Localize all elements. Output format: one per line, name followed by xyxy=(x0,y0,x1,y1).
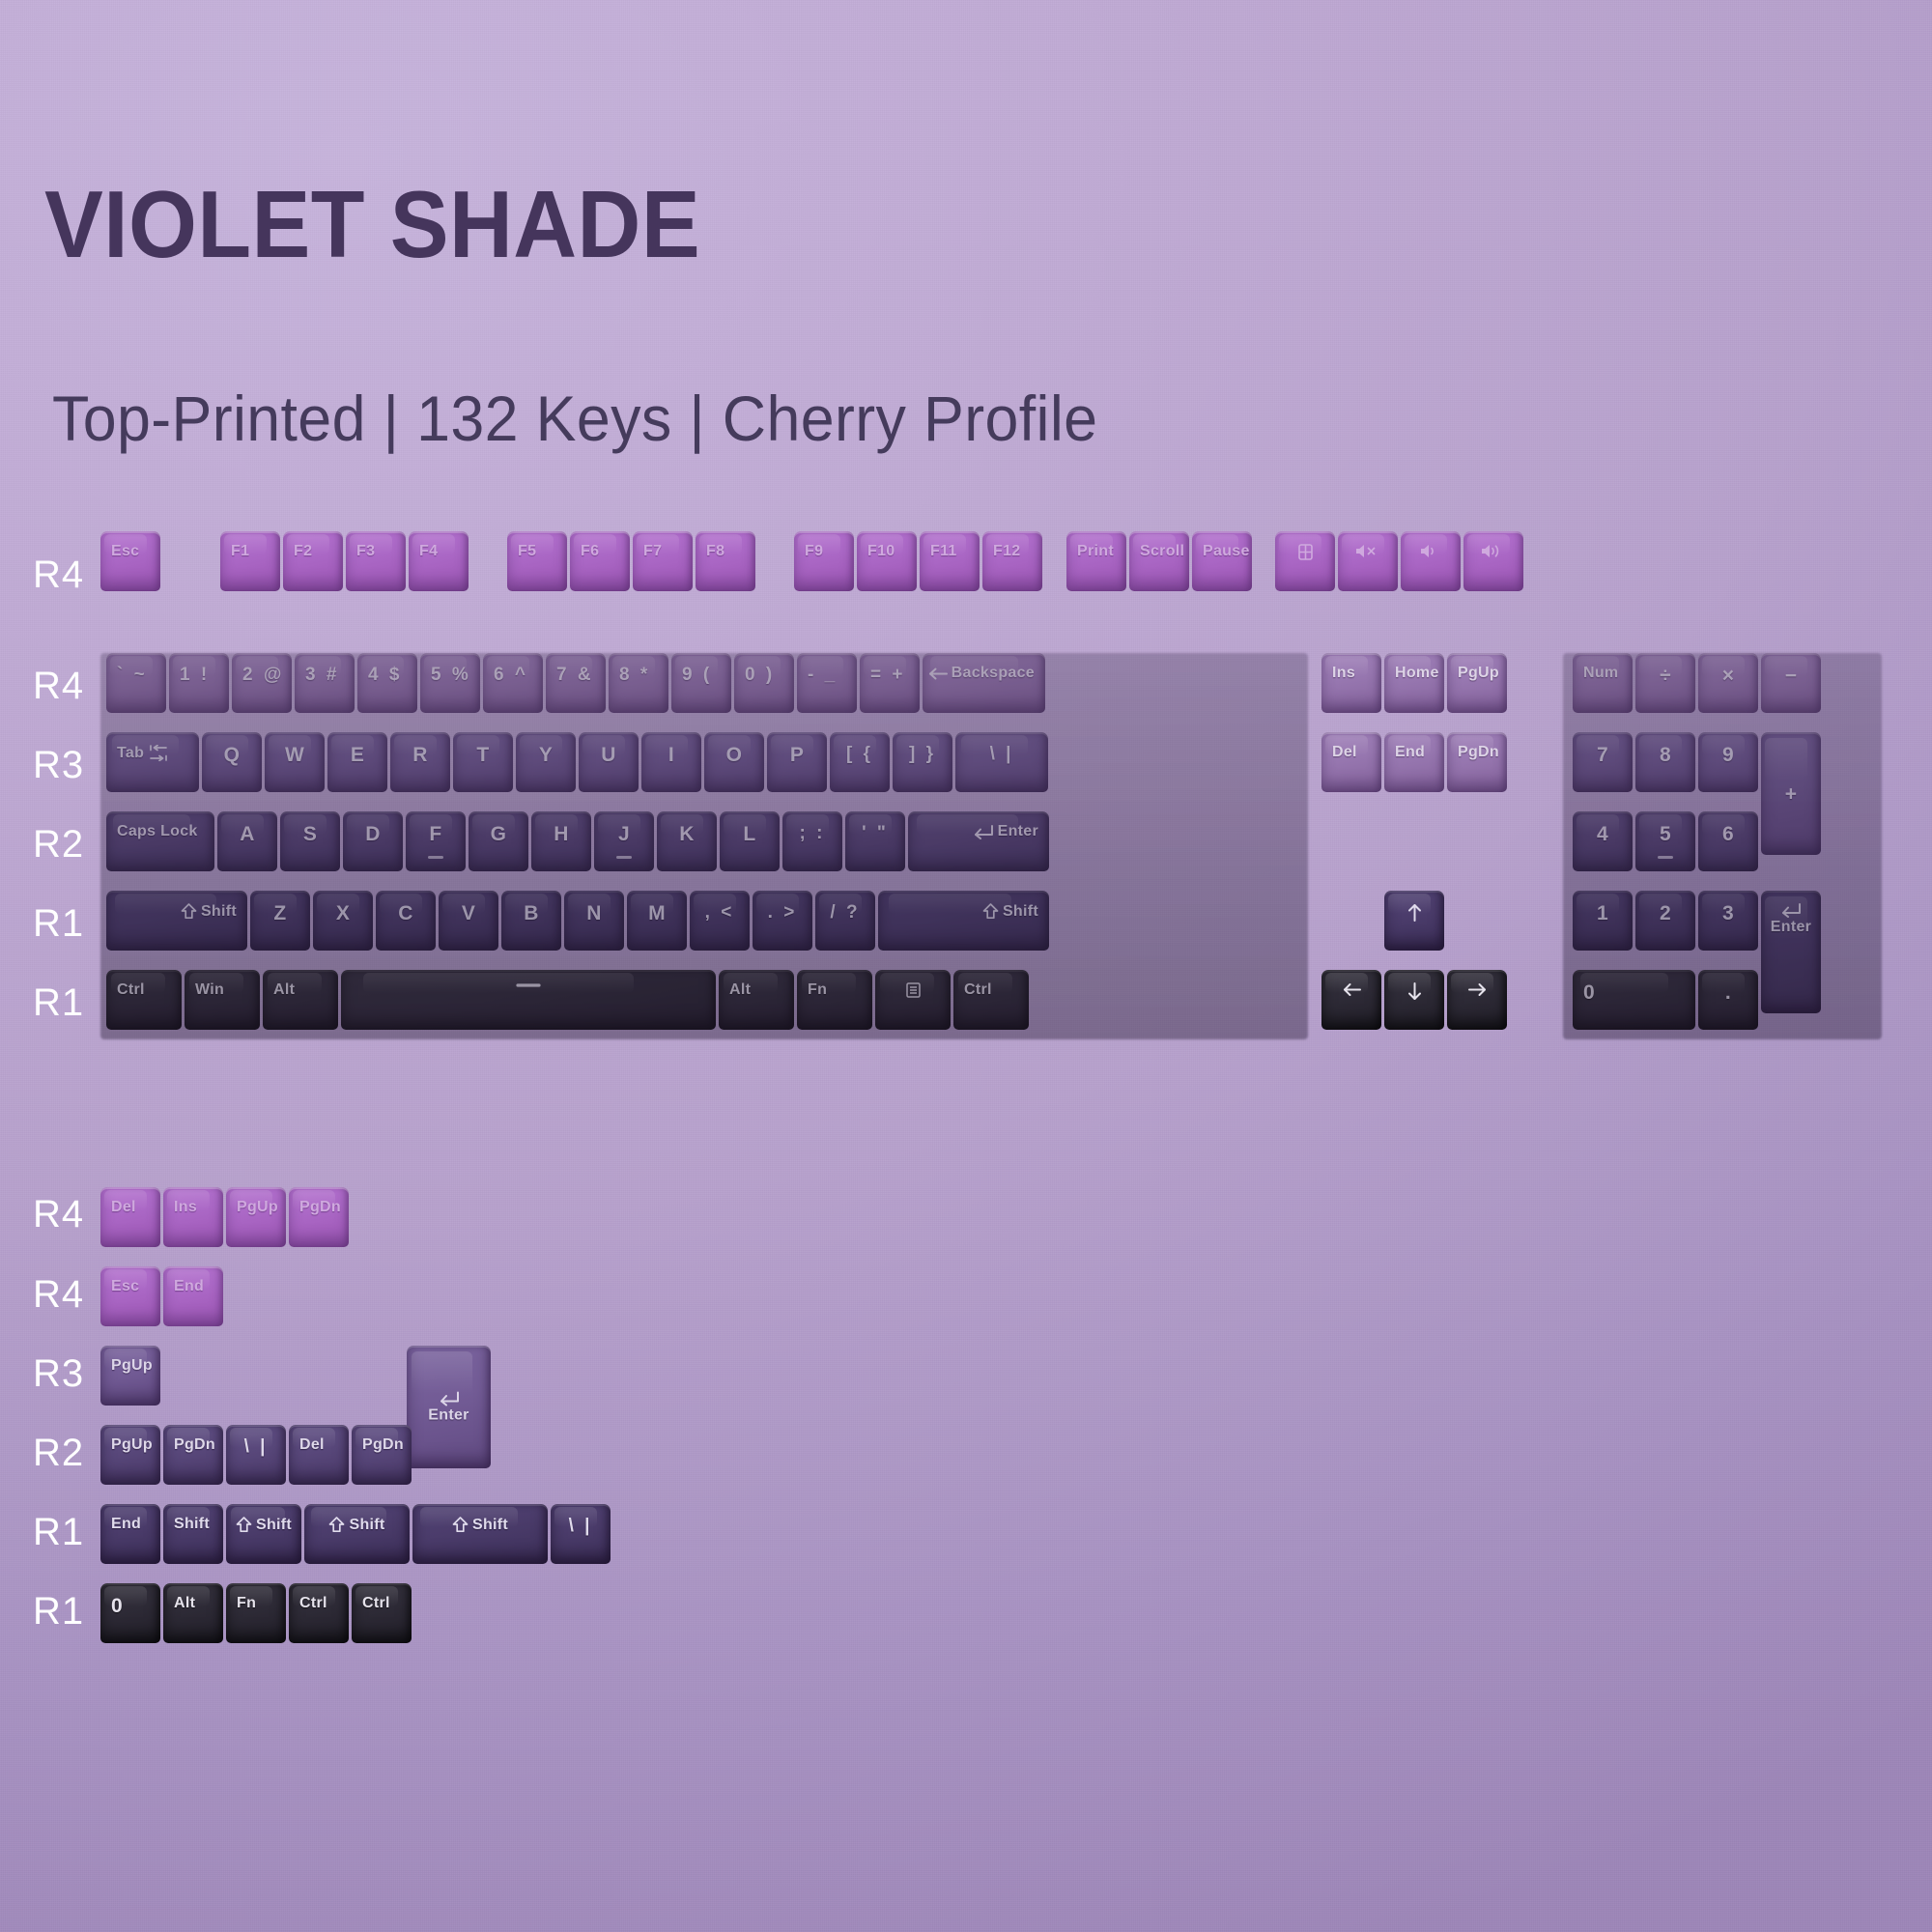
key-legend: Alt xyxy=(174,1583,195,1611)
extra-key-r1b-ctrl-4[interactable]: Ctrl xyxy=(352,1583,412,1643)
key-legend-text: Enter xyxy=(428,1407,469,1423)
key-pgup[interactable]: PgUp xyxy=(1447,653,1507,713)
key-arrow-right[interactable] xyxy=(1447,970,1507,1030)
up-arrow-icon xyxy=(1407,903,1422,922)
shift-arrow-icon xyxy=(236,1517,252,1533)
key-esc[interactable]: Esc xyxy=(100,531,160,591)
key-end[interactable]: End xyxy=(1384,732,1444,792)
key-legend-text: Ins xyxy=(1332,666,1355,681)
key-legend: Home xyxy=(1395,653,1439,681)
key-legend: F6 xyxy=(581,531,599,559)
keycap-surface xyxy=(794,531,854,591)
key-legend-text: F3 xyxy=(356,544,375,559)
key-legend-text: Print xyxy=(1077,544,1114,559)
key-legend-text: Alt xyxy=(174,1596,195,1611)
key-f6[interactable]: F6 xyxy=(570,531,630,591)
key-f3[interactable]: F3 xyxy=(346,531,406,591)
key-legend xyxy=(1407,891,1422,922)
key-legend-text: Fn xyxy=(237,1596,256,1611)
board-plate-main xyxy=(100,653,1308,1039)
keycap-surface xyxy=(570,531,630,591)
key-legend: Shift xyxy=(236,1504,292,1533)
key-legend-text: F7 xyxy=(643,544,662,559)
extra-key-r2-4[interactable]: PgDn xyxy=(352,1425,412,1485)
key-legend: \ | xyxy=(244,1425,269,1456)
key-legend-text: Ctrl xyxy=(299,1596,327,1611)
key-legend-text: PgUp xyxy=(237,1200,278,1215)
keycap-surface xyxy=(283,531,343,591)
key-legend-text: Esc xyxy=(111,1279,139,1294)
key-legend-text: Shift xyxy=(174,1517,210,1532)
key-legend-text: PgDn xyxy=(1458,745,1499,760)
key-legend-text: End xyxy=(174,1279,204,1294)
key-legend-text: End xyxy=(111,1517,141,1532)
product-render: VIOLET SHADE Top-Printed | 132 Keys | Ch… xyxy=(0,0,1932,1932)
keycap-surface xyxy=(100,1583,160,1643)
key-legend: End xyxy=(111,1504,141,1532)
key-f7[interactable]: F7 xyxy=(633,531,693,591)
key-legend-text: Scroll xyxy=(1140,544,1184,559)
key-legend-text: 0 xyxy=(111,1596,123,1616)
key-legend: Ins xyxy=(174,1187,197,1215)
key-legend: F11 xyxy=(930,531,957,559)
shift-arrow-icon xyxy=(328,1517,345,1533)
volume-up-icon xyxy=(1481,544,1506,558)
key-legend-text: F5 xyxy=(518,544,536,559)
page-title: VIOLET SHADE xyxy=(44,177,700,271)
key-legend-text: Shift xyxy=(349,1518,384,1533)
key-legend-text: PgUp xyxy=(111,1358,153,1374)
key-legend xyxy=(1407,970,1422,1001)
key-legend: F8 xyxy=(706,531,724,559)
key-legend-text: PgDn xyxy=(362,1437,404,1453)
key-legend: F1 xyxy=(231,531,249,559)
key-ins[interactable]: Ins xyxy=(1321,653,1381,713)
extra-key-del-a[interactable]: Del xyxy=(100,1187,160,1247)
key-f5[interactable]: F5 xyxy=(507,531,567,591)
extra-key-ins-a[interactable]: Ins xyxy=(163,1187,223,1247)
key-legend-text: F4 xyxy=(419,544,438,559)
key-legend-text: F6 xyxy=(581,544,599,559)
key-legend-text: PgDn xyxy=(299,1200,341,1215)
key-legend: Ins xyxy=(1332,653,1355,681)
key-legend: Print xyxy=(1077,531,1114,559)
key-mute[interactable] xyxy=(1338,531,1398,591)
key-legend: Shift xyxy=(328,1504,384,1533)
extra-key-esc-b[interactable]: Esc xyxy=(100,1266,160,1326)
extra-key-end-b[interactable]: End xyxy=(163,1266,223,1326)
key-legend: \ | xyxy=(569,1504,593,1535)
key-legend: Fn xyxy=(237,1583,256,1611)
keycap-surface xyxy=(409,531,469,591)
key-arrow-down[interactable] xyxy=(1384,970,1444,1030)
down-arrow-icon xyxy=(1407,982,1422,1001)
key-legend: Shift xyxy=(452,1504,508,1533)
right-arrow-icon xyxy=(1468,982,1487,997)
key-legend-text: Shift xyxy=(256,1518,292,1533)
key-print[interactable]: Print xyxy=(1066,531,1126,591)
key-f12[interactable]: F12 xyxy=(982,531,1042,591)
key-legend-text: F11 xyxy=(930,544,957,559)
key-legend-text: Ins xyxy=(174,1200,197,1215)
key-legend-text: Pause xyxy=(1203,544,1250,559)
extra-key-pgup-a[interactable]: PgUp xyxy=(226,1187,286,1247)
key-legend: PgUp xyxy=(1458,653,1499,681)
keycap-surface xyxy=(346,531,406,591)
key-legend-text: PgUp xyxy=(1458,666,1499,681)
key-legend: F3 xyxy=(356,531,375,559)
key-legend: End xyxy=(174,1266,204,1294)
key-legend-text: Shift xyxy=(472,1518,508,1533)
key-legend: PgUp xyxy=(111,1425,153,1453)
extra-key-shift-125[interactable]: Shift xyxy=(226,1504,301,1564)
keycap-surface xyxy=(696,531,755,591)
extra-key-r2-1[interactable]: PgDn xyxy=(163,1425,223,1485)
extra-key-end-r1[interactable]: End xyxy=(100,1504,160,1564)
key-f9[interactable]: F9 xyxy=(794,531,854,591)
key-legend: Del xyxy=(299,1425,325,1453)
key-f2[interactable]: F2 xyxy=(283,531,343,591)
key-legend: F7 xyxy=(643,531,662,559)
key-arrow-left[interactable] xyxy=(1321,970,1381,1030)
volume-down-icon xyxy=(1420,544,1441,558)
key-volume-up[interactable] xyxy=(1463,531,1523,591)
key-legend xyxy=(1468,970,1487,997)
key-f1[interactable]: F1 xyxy=(220,531,280,591)
key-legend xyxy=(1343,970,1361,997)
key-legend: Scroll xyxy=(1140,531,1184,559)
key-legend: Esc xyxy=(111,1266,139,1294)
board-plate-numpad xyxy=(1563,653,1882,1039)
key-arrow-up[interactable] xyxy=(1384,891,1444,951)
key-f8[interactable]: F8 xyxy=(696,531,755,591)
key-legend xyxy=(1355,531,1380,558)
key-legend xyxy=(1298,531,1313,560)
key-legend: F4 xyxy=(419,531,438,559)
key-scroll[interactable]: Scroll xyxy=(1129,531,1189,591)
key-legend: End xyxy=(1395,732,1425,760)
extra-key-r2-2[interactable]: \ | xyxy=(226,1425,286,1485)
key-legend: Del xyxy=(111,1187,136,1215)
key-legend-text: F9 xyxy=(805,544,823,559)
left-arrow-icon xyxy=(1343,982,1361,997)
key-legend-text: End xyxy=(1395,745,1425,760)
key-f11[interactable]: F11 xyxy=(920,531,980,591)
key-f10[interactable]: F10 xyxy=(857,531,917,591)
keycap-surface xyxy=(633,531,693,591)
extra-key-r1b-ctrl-3[interactable]: Ctrl xyxy=(289,1583,349,1643)
extra-key-pgdn-a[interactable]: PgDn xyxy=(289,1187,349,1247)
key-legend: Shift xyxy=(174,1504,210,1532)
key-legend-text: F2 xyxy=(294,544,312,559)
key-del[interactable]: Del xyxy=(1321,732,1381,792)
key-legend-text: F12 xyxy=(993,544,1020,559)
calculator-icon xyxy=(1298,544,1313,560)
extra-key-iso-enter[interactable]: Enter xyxy=(407,1346,491,1468)
key-legend-text: Ctrl xyxy=(362,1596,390,1611)
key-volume-down[interactable] xyxy=(1401,531,1461,591)
key-legend-text: Home xyxy=(1395,666,1439,681)
key-legend-text: F10 xyxy=(867,544,895,559)
extra-key-shift-175[interactable]: Shift xyxy=(304,1504,410,1564)
key-calculator[interactable] xyxy=(1275,531,1335,591)
keycap-surface xyxy=(507,531,567,591)
extra-key-r2-3[interactable]: Del xyxy=(289,1425,349,1485)
key-legend: F9 xyxy=(805,531,823,559)
key-legend: F10 xyxy=(867,531,895,559)
extra-key-backslash-r1[interactable]: \ | xyxy=(551,1504,611,1564)
key-legend: F12 xyxy=(993,531,1020,559)
shift-arrow-icon xyxy=(452,1517,469,1533)
key-legend xyxy=(1481,531,1506,558)
key-legend-text: Del xyxy=(1332,745,1357,760)
key-f4[interactable]: F4 xyxy=(409,531,469,591)
key-pgdn[interactable]: PgDn xyxy=(1447,732,1507,792)
key-legend-text: PgUp xyxy=(111,1437,153,1453)
extra-key-r1b-fn-2[interactable]: Fn xyxy=(226,1583,286,1643)
key-legend-text: Del xyxy=(111,1200,136,1215)
key-legend: F5 xyxy=(518,531,536,559)
key-legend: Enter xyxy=(428,1391,469,1423)
key-legend-text: \ | xyxy=(244,1437,269,1456)
keycap-surface xyxy=(220,531,280,591)
extra-key-r1b-alt-1[interactable]: Alt xyxy=(163,1583,223,1643)
key-pause[interactable]: Pause xyxy=(1192,531,1252,591)
key-legend-text: Esc xyxy=(111,544,139,559)
key-legend: 0 xyxy=(111,1583,123,1616)
key-legend: Esc xyxy=(111,531,139,559)
extra-key-shift-225[interactable]: Shift xyxy=(412,1504,548,1564)
key-legend: Del xyxy=(1332,732,1357,760)
extra-key-shift-1u[interactable]: Shift xyxy=(163,1504,223,1564)
key-legend: PgUp xyxy=(237,1187,278,1215)
extra-key-r1b-0-0[interactable]: 0 xyxy=(100,1583,160,1643)
page-subtitle: Top-Printed | 132 Keys | Cherry Profile xyxy=(52,386,1097,450)
key-legend: PgDn xyxy=(1458,732,1499,760)
key-legend-text: \ | xyxy=(569,1517,593,1535)
key-legend: PgDn xyxy=(299,1187,341,1215)
extra-key-pgup-r3[interactable]: PgUp xyxy=(100,1346,160,1406)
key-legend: Pause xyxy=(1203,531,1250,559)
key-legend: Ctrl xyxy=(362,1583,390,1611)
key-legend-text: F8 xyxy=(706,544,724,559)
key-legend xyxy=(1420,531,1441,558)
key-home[interactable]: Home xyxy=(1384,653,1444,713)
key-legend: Ctrl xyxy=(299,1583,327,1611)
key-legend: PgDn xyxy=(362,1425,404,1453)
mute-icon xyxy=(1355,544,1380,558)
key-legend-text: Del xyxy=(299,1437,325,1453)
enter-arrow-icon xyxy=(439,1391,460,1406)
key-legend: PgUp xyxy=(111,1346,153,1374)
key-legend: PgDn xyxy=(174,1425,215,1453)
key-legend-text: PgDn xyxy=(174,1437,215,1453)
key-legend: F2 xyxy=(294,531,312,559)
key-legend-text: F1 xyxy=(231,544,249,559)
extra-key-r2-0[interactable]: PgUp xyxy=(100,1425,160,1485)
